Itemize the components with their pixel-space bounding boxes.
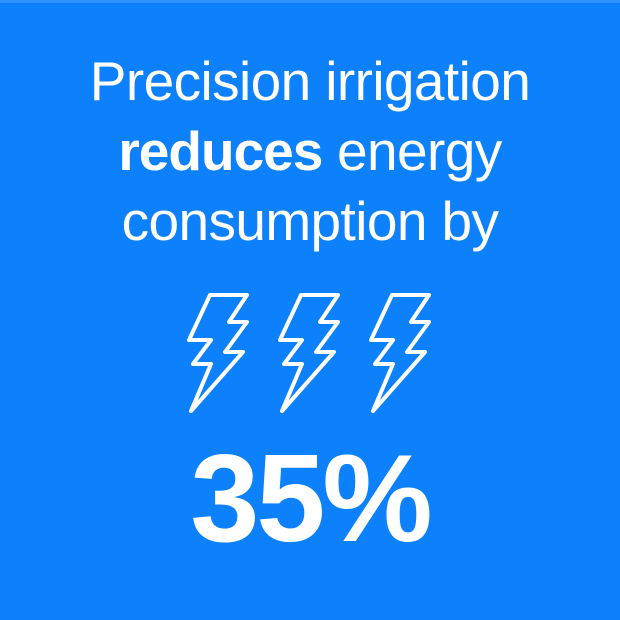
energy-statistic-card: Precision irrigation reduces energy cons… bbox=[0, 0, 620, 620]
headline-line-2-suffix: energy bbox=[322, 120, 501, 182]
headline-line-1: Precision irrigation bbox=[0, 46, 620, 116]
top-edge-highlight bbox=[0, 0, 620, 3]
statistic-value: 35% bbox=[0, 437, 620, 561]
lightning-bolt-row bbox=[0, 292, 620, 414]
headline: Precision irrigation reduces energy cons… bbox=[0, 46, 620, 256]
lightning-bolt-icon bbox=[367, 292, 435, 414]
headline-line-2: reduces energy bbox=[0, 116, 620, 186]
headline-emphasis-reduces: reduces bbox=[118, 120, 322, 182]
lightning-bolt-icon bbox=[276, 292, 344, 414]
lightning-bolt-icon bbox=[185, 292, 253, 414]
headline-line-3: consumption by bbox=[0, 186, 620, 256]
